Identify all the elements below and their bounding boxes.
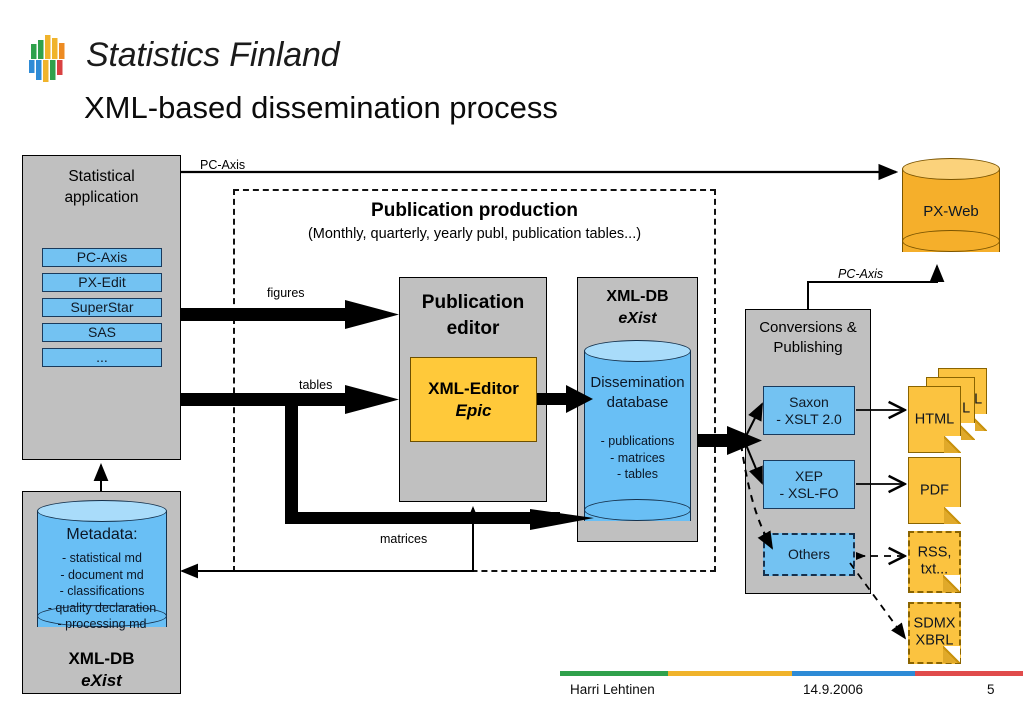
dissemination-db-item: - publications xyxy=(584,433,691,450)
publication-editor-title-line2: editor xyxy=(400,316,546,342)
metadata-item: - classifications xyxy=(37,583,167,600)
xml-editor-sublabel: Epic xyxy=(456,400,492,421)
footer-color-rule xyxy=(560,671,1023,676)
dissemination-db-line1: Dissemination xyxy=(584,373,691,393)
output-doc-label-line2: XBRL xyxy=(910,633,959,650)
output-doc-label-line1: SDMX xyxy=(910,616,959,633)
conversions-title-line1: Conversions & xyxy=(746,318,870,338)
app-chip-superstar[interactable]: SuperStar xyxy=(42,298,162,317)
output-doc-pdf[interactable]: PDF xyxy=(908,457,961,524)
flow-label-pc-axis-pxweb: PC-Axis xyxy=(838,267,883,281)
footer-rule-red xyxy=(915,671,1023,676)
publication-production-subheading: (Monthly, quarterly, yearly publ, public… xyxy=(233,226,716,242)
page-fold-icon xyxy=(944,507,961,524)
dissemination-db-item: - matrices xyxy=(584,450,691,467)
conversion-tool-line2: - XSL-FO xyxy=(779,485,838,501)
output-doc-label-line2: txt... xyxy=(910,562,959,579)
px-web-cylinder: PX-Web xyxy=(902,158,1000,263)
xml-db-title-line2: eXist xyxy=(578,308,697,330)
output-doc-label-wrap: SDMX XBRL xyxy=(910,616,959,651)
statistics-finland-bars-logo xyxy=(28,32,80,84)
conversion-tool-saxon[interactable]: Saxon - XSLT 2.0 xyxy=(763,386,855,435)
app-chip-px-edit[interactable]: PX-Edit xyxy=(42,273,162,292)
conversion-tool-line1: Others xyxy=(788,546,830,562)
conversion-tool-line2: - XSLT 2.0 xyxy=(776,411,842,427)
metadata-item: - processing md xyxy=(37,616,167,633)
app-chip-label: SAS xyxy=(88,324,116,340)
xml-editor-label: XML-Editor xyxy=(428,378,519,399)
flow-label-tables: tables xyxy=(299,378,332,392)
xml-editor-epic-box[interactable]: XML-Editor Epic xyxy=(410,357,537,442)
metadata-panel-footer: XML-DB eXist xyxy=(22,648,181,692)
output-doc-sdmx-xbrl[interactable]: SDMX XBRL xyxy=(908,602,961,664)
flow-label-figures: figures xyxy=(267,286,305,300)
metadata-cylinder-title: Metadata: xyxy=(37,526,167,544)
flow-label-matrices: matrices xyxy=(380,532,427,546)
output-doc-label-wrap: RSS, txt... xyxy=(910,545,959,580)
footer-author: Harri Lehtinen xyxy=(570,682,655,697)
publication-editor-title-line1: Publication xyxy=(400,290,546,316)
output-doc-rss[interactable]: RSS, txt... xyxy=(908,531,961,593)
metadata-item: - quality declaration xyxy=(37,600,167,617)
xml-db-title-line1: XML-DB xyxy=(578,286,697,308)
px-web-label: PX-Web xyxy=(902,203,1000,220)
statistical-application-panel: Statistical application PC-Axis PX-Edit … xyxy=(22,155,181,460)
dissemination-db-line2: database xyxy=(584,393,691,413)
page-title: XML-based dissemination process xyxy=(84,90,558,126)
publication-production-heading: Publication production xyxy=(233,200,716,222)
app-chip-label: ... xyxy=(96,349,108,365)
brand-name: Statistics Finland xyxy=(86,36,339,75)
conversion-tool-xep[interactable]: XEP - XSL-FO xyxy=(763,460,855,509)
footer-rule-green xyxy=(560,671,668,676)
app-chip-label: PC-Axis xyxy=(77,249,128,265)
dissemination-db-item: - tables xyxy=(584,466,691,483)
output-doc-label: HTML xyxy=(909,411,960,428)
metadata-cylinder: Metadata: - statistical md - document md… xyxy=(37,500,167,638)
conversion-tool-line1: XEP xyxy=(795,468,823,484)
metadata-item: - document md xyxy=(37,567,167,584)
metadata-item: - statistical md xyxy=(37,550,167,567)
footer-page-number: 5 xyxy=(987,682,995,697)
footer-rule-blue xyxy=(792,671,916,676)
footer-rule-yellow xyxy=(668,671,792,676)
conversion-tool-others[interactable]: Others xyxy=(763,533,855,576)
conversions-title-line2: Publishing xyxy=(746,338,870,358)
flow-label-pc-axis-top: PC-Axis xyxy=(200,158,245,172)
output-doc-html[interactable]: HTML xyxy=(908,386,961,453)
output-doc-label-line1: RSS, xyxy=(910,545,959,562)
app-chip-label: PX-Edit xyxy=(78,274,125,290)
dissemination-database-cylinder: Dissemination database - publications - … xyxy=(584,340,691,532)
output-doc-label: PDF xyxy=(909,482,960,499)
metadata-footer-line2: eXist xyxy=(22,670,181,692)
metadata-footer-line1: XML-DB xyxy=(22,648,181,670)
app-chip-others[interactable]: ... xyxy=(42,348,162,367)
app-chip-sas[interactable]: SAS xyxy=(42,323,162,342)
conversion-tool-line1: Saxon xyxy=(789,394,829,410)
app-chip-label: SuperStar xyxy=(70,299,133,315)
app-chip-pc-axis[interactable]: PC-Axis xyxy=(42,248,162,267)
page-fold-icon xyxy=(944,436,961,453)
statistical-application-title-line2: application xyxy=(23,187,180,208)
footer-date: 14.9.2006 xyxy=(803,682,863,697)
statistical-application-title-line1: Statistical xyxy=(23,166,180,187)
